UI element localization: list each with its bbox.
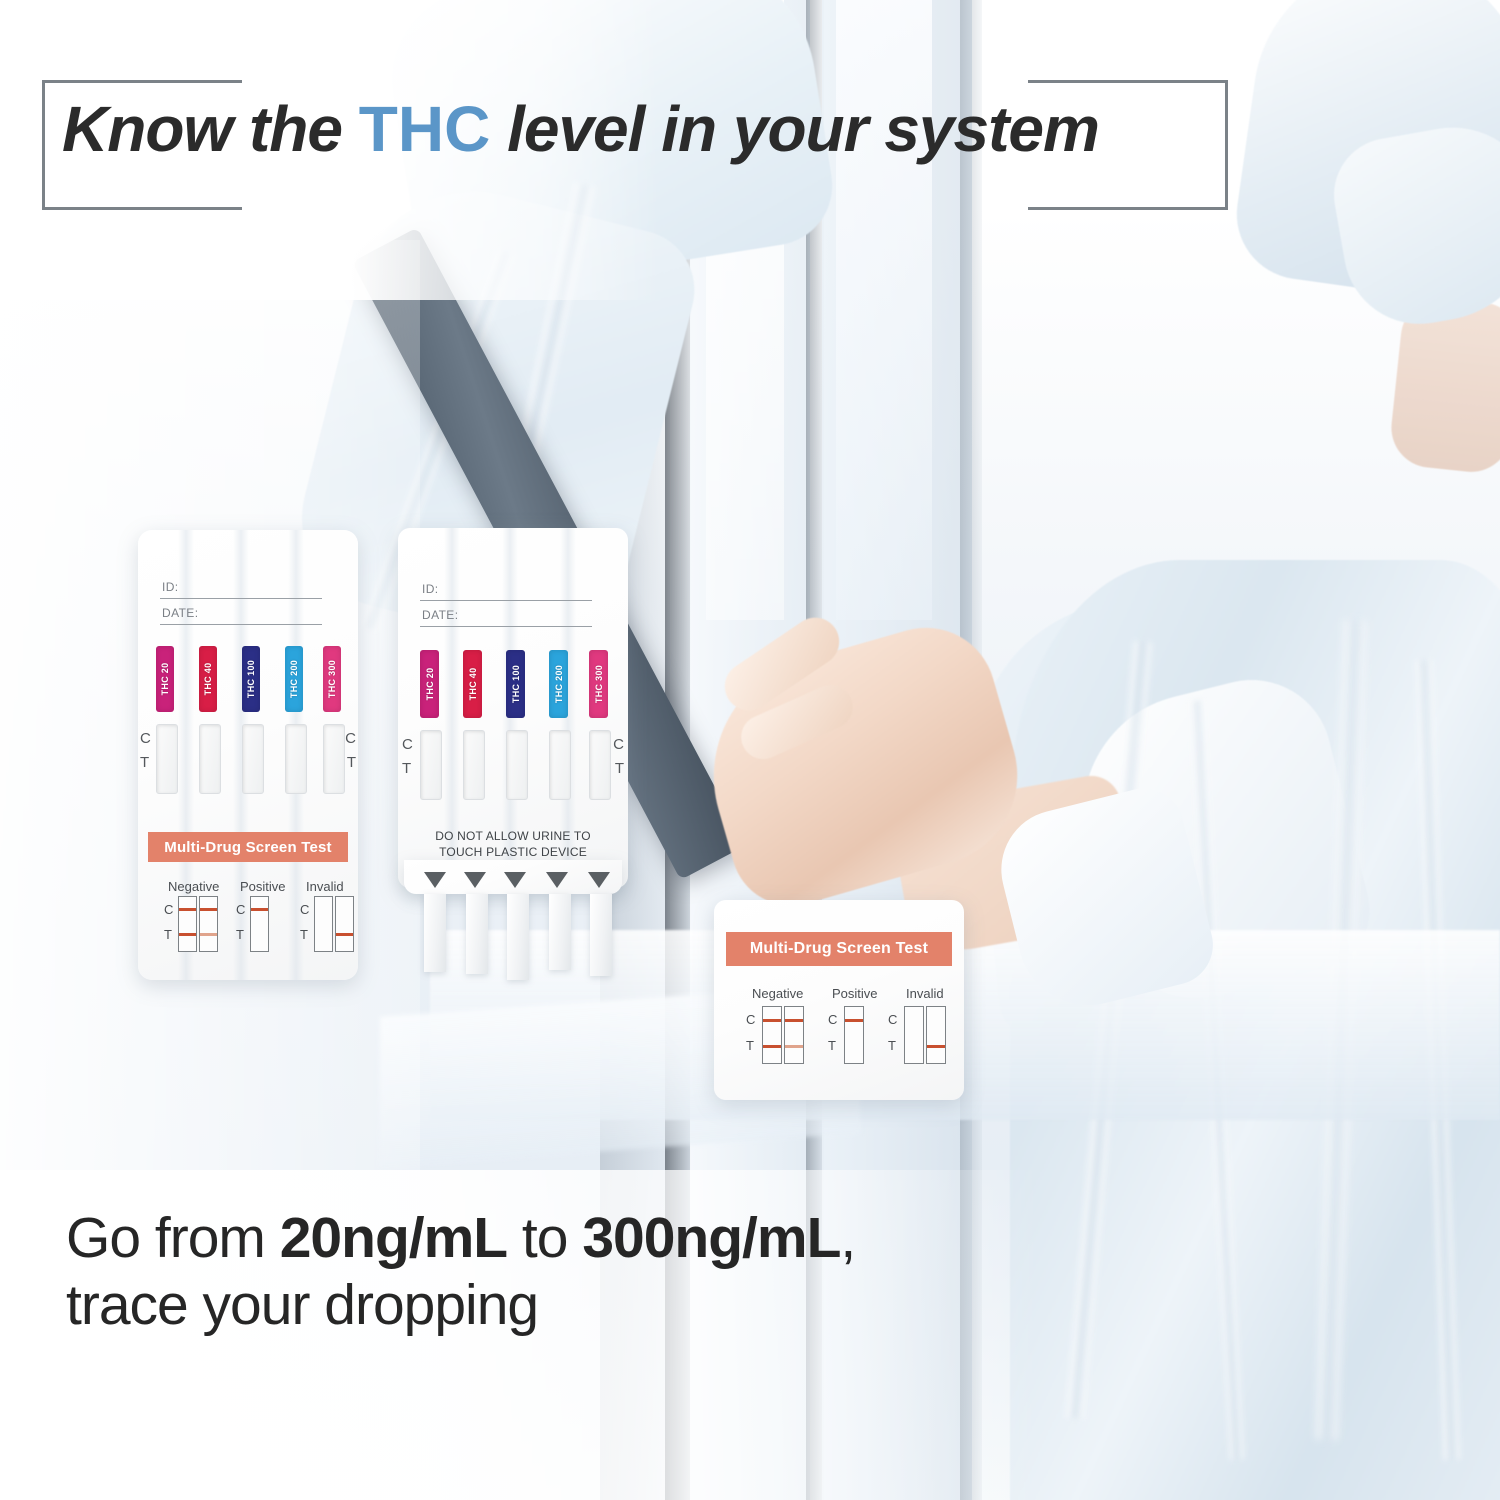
strip-arrow-icon bbox=[546, 872, 568, 888]
legend-t-mark: T bbox=[888, 1038, 896, 1053]
legend-strip-negative-a bbox=[762, 1006, 782, 1064]
legend-t-mark: T bbox=[300, 927, 308, 942]
legend-invalid-label: Invalid bbox=[906, 986, 944, 1001]
id-label: ID: bbox=[422, 582, 439, 596]
legend-positive-label: Positive bbox=[832, 986, 878, 1001]
strip-label-thc-20: THC 20 bbox=[156, 646, 174, 712]
strip-text: THC 20 bbox=[160, 663, 170, 696]
t-mark-right: T bbox=[615, 760, 624, 777]
test-card-middle: ID: DATE: THC 20 THC 40 THC 100 THC 200 … bbox=[398, 528, 628, 888]
date-label: DATE: bbox=[162, 606, 198, 620]
result-window bbox=[242, 724, 264, 794]
strip-label-thc-40: THC 40 bbox=[199, 646, 217, 712]
test-card-left: ID: DATE: THC 20 THC 40 THC 100 THC 200 … bbox=[138, 530, 358, 980]
subheadline-line-1: Go from 20ng/mL to 300ng/mL, bbox=[66, 1205, 1066, 1272]
headline-prefix: Know the bbox=[62, 93, 359, 165]
banner-multi-drug-screen-test: Multi-Drug Screen Test bbox=[148, 832, 348, 862]
strip-label-thc-300: THC 300 bbox=[323, 646, 341, 712]
legend-strip-negative-a bbox=[178, 896, 197, 952]
test-strip-tail bbox=[549, 894, 571, 970]
legend-strip-invalid-b bbox=[335, 896, 354, 952]
c-mark-left: C bbox=[402, 736, 413, 753]
dose-low: 20ng/mL bbox=[280, 1206, 507, 1270]
t-mark-right: T bbox=[347, 754, 356, 771]
legend-t-mark: T bbox=[746, 1038, 754, 1053]
legend-negative-label: Negative bbox=[752, 986, 803, 1001]
legend-strip-negative-b bbox=[199, 896, 218, 952]
warning-notice: DO NOT ALLOW URINE TO TOUCH PLASTIC DEVI… bbox=[410, 828, 616, 860]
strip-label-thc-40: THC 40 bbox=[463, 650, 482, 718]
subcopy-go-from: Go from bbox=[66, 1206, 280, 1270]
legend-c-mark: C bbox=[300, 902, 309, 917]
strip-arrow-icon bbox=[504, 872, 526, 888]
legend-strip-invalid-a bbox=[314, 896, 333, 952]
c-mark-left: C bbox=[140, 730, 151, 747]
strip-label-thc-100: THC 100 bbox=[506, 650, 525, 718]
legend-c-mark: C bbox=[888, 1012, 897, 1027]
test-card-detail: Multi-Drug Screen Test Negative Positive… bbox=[714, 900, 964, 1100]
strip-text: THC 100 bbox=[246, 660, 256, 698]
dose-high: 300ng/mL bbox=[582, 1206, 840, 1270]
strip-text: THC 40 bbox=[203, 663, 213, 696]
page-title: Know the THC level in your system bbox=[62, 92, 1262, 166]
headline-suffix: level in your system bbox=[490, 93, 1099, 165]
strip-label-thc-300: THC 300 bbox=[589, 650, 608, 718]
legend-strip-negative-b bbox=[784, 1006, 804, 1064]
test-strip-tail bbox=[466, 894, 488, 974]
strip-arrow-icon bbox=[424, 872, 446, 888]
result-window bbox=[156, 724, 178, 794]
result-window bbox=[589, 730, 611, 800]
subcopy-comma: , bbox=[840, 1206, 855, 1270]
legend-strip-invalid-a bbox=[904, 1006, 924, 1064]
strip-text: THC 40 bbox=[468, 668, 478, 701]
legend-c-mark: C bbox=[828, 1012, 837, 1027]
marketing-image: Know the THC level in your system Go fro… bbox=[0, 0, 1500, 1500]
subheadline: Go from 20ng/mL to 300ng/mL, trace your … bbox=[66, 1205, 1066, 1340]
strip-label-thc-200: THC 200 bbox=[285, 646, 303, 712]
date-rule bbox=[420, 626, 592, 627]
legend-positive-label: Positive bbox=[240, 879, 286, 894]
legend-t-mark: T bbox=[236, 927, 244, 942]
result-window bbox=[463, 730, 485, 800]
banner-multi-drug-screen-test: Multi-Drug Screen Test bbox=[726, 932, 952, 966]
legend-c-mark: C bbox=[236, 902, 245, 917]
result-window bbox=[506, 730, 528, 800]
strip-text: THC 200 bbox=[289, 660, 299, 698]
strip-text: THC 100 bbox=[511, 665, 521, 703]
legend-t-mark: T bbox=[164, 927, 172, 942]
test-strip-tail bbox=[424, 894, 446, 972]
headline-accent-thc: THC bbox=[359, 93, 491, 165]
result-window bbox=[199, 724, 221, 794]
strip-text: THC 200 bbox=[554, 665, 564, 703]
strip-arrow-icon bbox=[588, 872, 610, 888]
c-mark-right: C bbox=[613, 736, 624, 753]
warning-line-1: DO NOT ALLOW URINE TO bbox=[410, 828, 616, 844]
id-label: ID: bbox=[162, 580, 179, 594]
legend-strip-positive bbox=[250, 896, 269, 952]
date-label: DATE: bbox=[422, 608, 458, 622]
legend-invalid-label: Invalid bbox=[306, 879, 344, 894]
strip-text: THC 300 bbox=[327, 660, 337, 698]
strip-label-thc-200: THC 200 bbox=[549, 650, 568, 718]
strip-label-thc-20: THC 20 bbox=[420, 650, 439, 718]
test-strip-tail bbox=[590, 894, 612, 976]
warning-line-2: TOUCH PLASTIC DEVICE bbox=[410, 844, 616, 860]
t-mark-left: T bbox=[140, 754, 149, 771]
result-window bbox=[323, 724, 345, 794]
strip-text: THC 300 bbox=[594, 665, 604, 703]
legend-t-mark: T bbox=[828, 1038, 836, 1053]
legend-c-mark: C bbox=[746, 1012, 755, 1027]
legend-negative-label: Negative bbox=[168, 879, 219, 894]
legend-strip-invalid-b bbox=[926, 1006, 946, 1064]
c-mark-right: C bbox=[345, 730, 356, 747]
date-rule bbox=[160, 624, 322, 625]
strip-label-thc-100: THC 100 bbox=[242, 646, 260, 712]
result-window bbox=[549, 730, 571, 800]
subheadline-line-2: trace your dropping bbox=[66, 1272, 1066, 1339]
id-rule bbox=[420, 600, 592, 601]
result-window bbox=[420, 730, 442, 800]
result-window bbox=[285, 724, 307, 794]
strip-arrow-icon bbox=[464, 872, 486, 888]
legend-c-mark: C bbox=[164, 902, 173, 917]
legend-strip-positive bbox=[844, 1006, 864, 1064]
test-strip-tail bbox=[507, 894, 529, 980]
subcopy-to: to bbox=[507, 1206, 582, 1270]
id-rule bbox=[160, 598, 322, 599]
strip-text: THC 20 bbox=[425, 668, 435, 701]
t-mark-left: T bbox=[402, 760, 411, 777]
